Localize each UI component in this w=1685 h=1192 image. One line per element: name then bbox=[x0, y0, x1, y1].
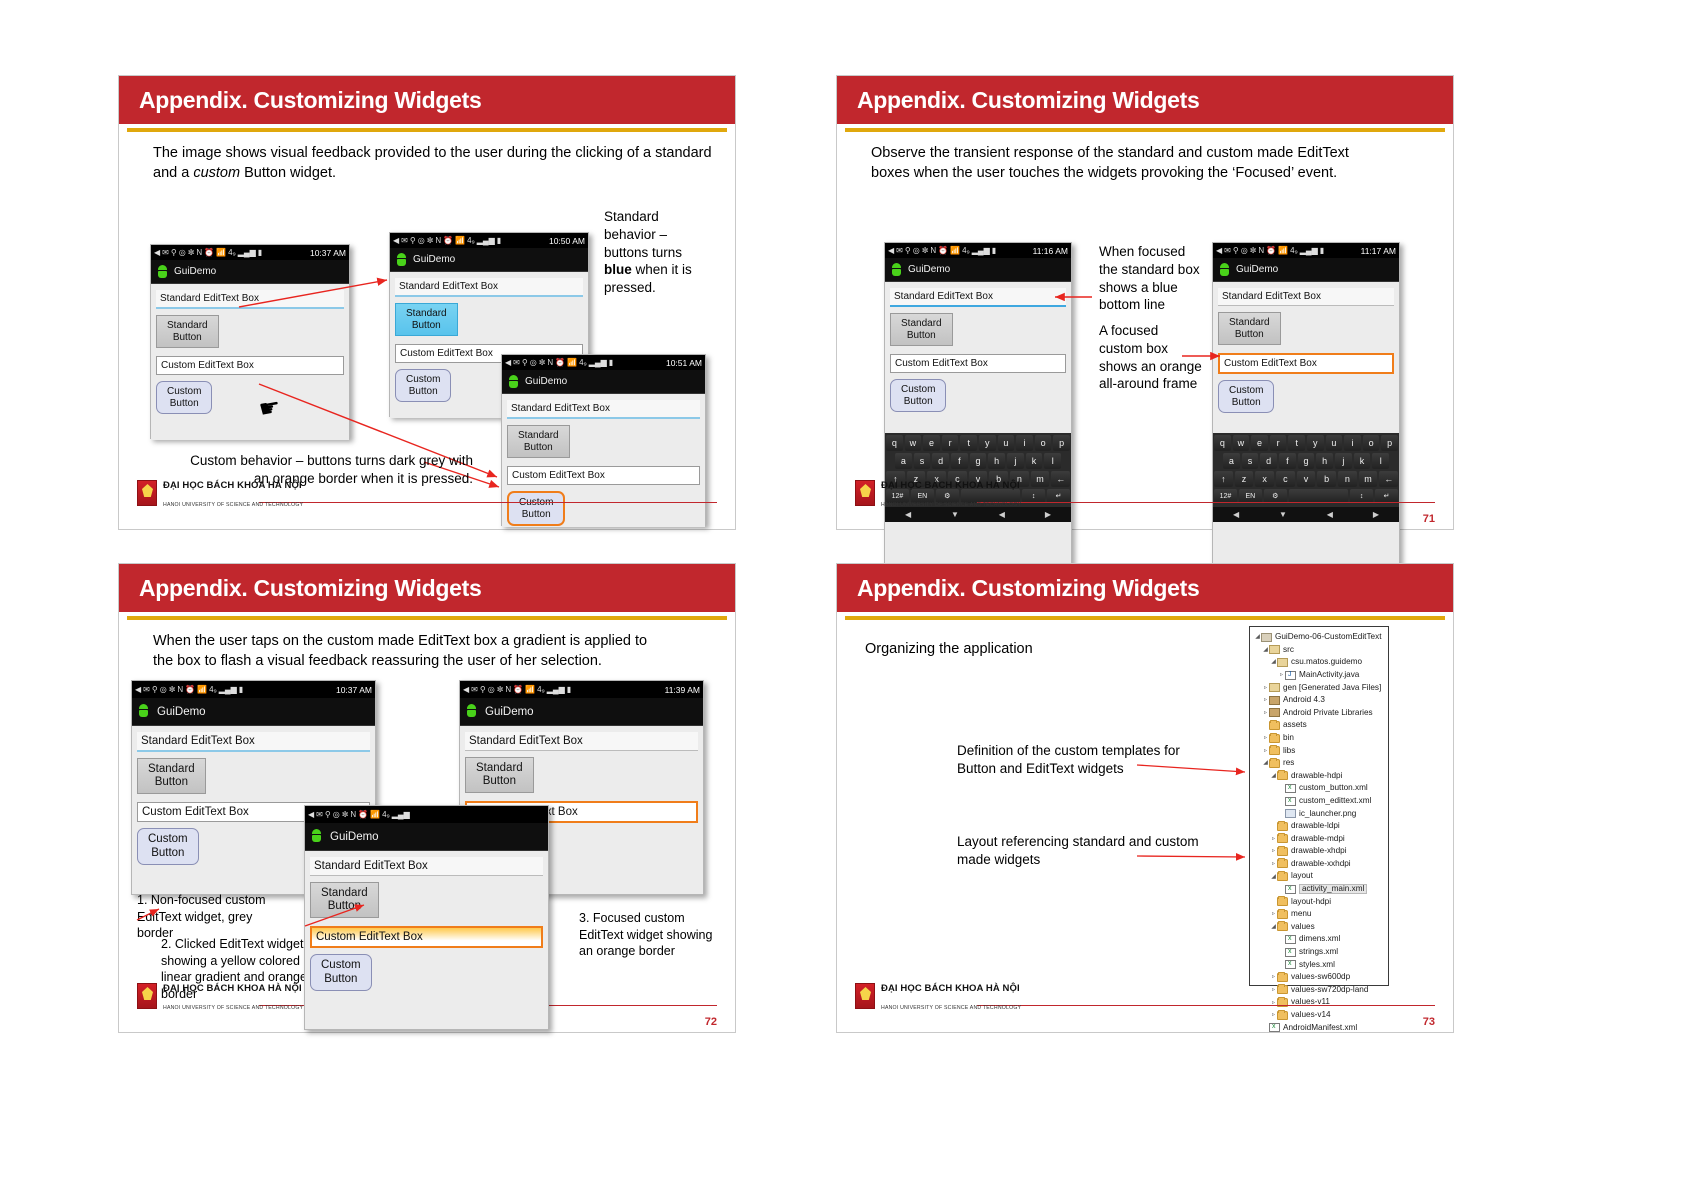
folder-icon bbox=[1277, 872, 1288, 881]
key-h[interactable]: h bbox=[988, 453, 1005, 469]
tree-item[interactable]: ▹drawable-xhdpi bbox=[1254, 845, 1384, 858]
xml-icon bbox=[1285, 935, 1296, 944]
nav-hide-icon[interactable]: ▼ bbox=[951, 510, 959, 519]
android-robot-icon bbox=[508, 375, 519, 388]
key-k[interactable]: k bbox=[1354, 453, 1371, 469]
standard-button[interactable]: Standard Button bbox=[507, 425, 570, 458]
custom-button-line1: Custom bbox=[901, 384, 935, 395]
signal-icon: ▂▄▆ bbox=[589, 359, 607, 367]
twisty-open-icon[interactable]: ◢ bbox=[1270, 659, 1277, 665]
callout-standard-behavior: Standard behavior – buttons turns blue w… bbox=[604, 208, 724, 297]
tree-item[interactable]: ▹gen [Generated Java Files] bbox=[1254, 681, 1384, 694]
key-b[interactable]: b bbox=[1317, 471, 1336, 487]
custom-button[interactable]: Custom Button bbox=[137, 828, 199, 864]
tree-item[interactable]: ▹menu bbox=[1254, 908, 1384, 921]
tree-item-label: values-sw600dp bbox=[1291, 973, 1350, 981]
tree-item[interactable]: ◢csu.matos.guidemo bbox=[1254, 656, 1384, 669]
app-action-bar: GuiDemo bbox=[460, 698, 703, 726]
app-screen: Standard EditText Box Standard Button Cu… bbox=[1213, 282, 1399, 433]
tree-item[interactable]: ▹MainActivity.java bbox=[1254, 669, 1384, 682]
app-action-bar: GuiDemo bbox=[305, 823, 548, 851]
key-u[interactable]: u bbox=[1326, 435, 1343, 451]
custom-button-line2: Button bbox=[1232, 397, 1261, 408]
xml-icon bbox=[1285, 784, 1296, 793]
twisty-open-icon[interactable]: ◢ bbox=[1262, 760, 1269, 766]
university-name: ĐẠI HỌC BÁCH KHOA HÀ NỘI bbox=[881, 480, 1020, 491]
twisty-closed-icon[interactable]: ▹ bbox=[1278, 672, 1285, 678]
key-i[interactable]: i bbox=[1344, 435, 1361, 451]
status-bar: ◀ ✉ ⚲ ◎ ✼ N ⏰ 📶 4₉ ▂▄▆ bbox=[305, 806, 548, 823]
tree-item[interactable]: ▹Android 4.3 bbox=[1254, 694, 1384, 707]
tree-item-label: values-sw720dp-land bbox=[1291, 986, 1368, 994]
standard-button[interactable]: Standard Button bbox=[890, 313, 953, 346]
slide-4-intro-text: Organizing the application bbox=[865, 641, 1033, 657]
footer-divider bbox=[977, 502, 1435, 503]
callout-line-5: pressed. bbox=[604, 280, 656, 295]
callout-layout-reference: Layout referencing standard and custom m… bbox=[957, 833, 1227, 869]
tree-item[interactable]: custom_edittext.xml bbox=[1254, 795, 1384, 808]
enter-key-icon[interactable]: ↵ bbox=[1375, 489, 1398, 503]
custom-button-pressed[interactable]: Custom Button bbox=[507, 491, 565, 526]
folder-icon bbox=[1277, 771, 1288, 780]
message-icon: ✉ bbox=[401, 237, 408, 245]
key-a[interactable]: a bbox=[895, 453, 912, 469]
app-action-bar: GuiDemo bbox=[502, 370, 705, 394]
tree-item-label: Android Private Libraries bbox=[1283, 709, 1373, 717]
sound-icon: ◎ bbox=[160, 686, 167, 694]
standard-button[interactable]: Standard Button bbox=[465, 757, 534, 793]
slide-3-intro-line1: When the user taps on the custom made Ed… bbox=[153, 633, 647, 649]
folder-icon bbox=[1269, 746, 1280, 755]
twisty-closed-icon[interactable]: ▹ bbox=[1270, 911, 1277, 917]
standard-edittext[interactable]: Standard EditText Box bbox=[1218, 288, 1394, 306]
twisty-closed-icon[interactable]: ▹ bbox=[1270, 836, 1277, 842]
key-d[interactable]: d bbox=[1260, 453, 1277, 469]
status-clock-wrap: 11:16 AM bbox=[1033, 246, 1068, 256]
tree-item[interactable]: ▹bin bbox=[1254, 732, 1384, 745]
message-icon: ✉ bbox=[1224, 247, 1231, 255]
android-robot-icon bbox=[138, 704, 151, 719]
twisty-open-icon[interactable]: ◢ bbox=[1270, 874, 1277, 880]
tree-item-label: assets bbox=[1283, 721, 1307, 729]
standard-button[interactable]: Standard Button bbox=[310, 882, 379, 918]
twisty-closed-icon[interactable]: ▹ bbox=[1262, 697, 1269, 703]
alarm-icon: ⏰ bbox=[358, 811, 368, 819]
wifi-icon: 📶 bbox=[216, 249, 226, 257]
status-icons-left: ◀ ✉ ⚲ ◎ ✼ N ⏰ 📶 4₉ ▂▄▆ ▮ bbox=[393, 237, 501, 245]
nfc-icon: N bbox=[547, 359, 553, 367]
key-t[interactable]: t bbox=[960, 435, 977, 451]
standard-button-pressed[interactable]: Standard Button bbox=[395, 303, 458, 336]
status-ampm: AM bbox=[572, 236, 585, 246]
battery-icon: ▮ bbox=[497, 237, 501, 245]
key-d[interactable]: d bbox=[932, 453, 949, 469]
app-title: GuiDemo bbox=[157, 706, 206, 718]
status-icons-left: ◀ ✉ ⚲ ◎ ✼ N ⏰ 📶 4₉ ▂▄▆ ▮ bbox=[154, 249, 262, 257]
key-y[interactable]: y bbox=[1307, 435, 1324, 451]
tree-item-label: bin bbox=[1283, 734, 1294, 742]
nfc-icon: N bbox=[196, 249, 202, 257]
nav-prev-icon[interactable]: ◀ bbox=[999, 510, 1005, 519]
battery-icon: ▮ bbox=[567, 686, 571, 694]
network-icon: 4₉ bbox=[579, 359, 587, 367]
signal-icon: ▂▄▆ bbox=[972, 247, 990, 255]
key-g[interactable]: g bbox=[1298, 453, 1315, 469]
custom-button-line2: Button bbox=[151, 847, 184, 859]
key-y[interactable]: y bbox=[979, 435, 996, 451]
custom-button-line2: Button bbox=[522, 509, 551, 520]
callout1-line-2: Button and EditText widgets bbox=[957, 761, 1124, 776]
tree-item[interactable]: layout-hdpi bbox=[1254, 895, 1384, 908]
battery-icon: ▮ bbox=[992, 247, 996, 255]
app-title: GuiDemo bbox=[413, 254, 455, 265]
folder-icon bbox=[1269, 721, 1280, 730]
slide-4-body: Organizing the application Definition of… bbox=[837, 620, 1453, 1032]
key-p[interactable]: p bbox=[1381, 435, 1398, 451]
tree-item[interactable]: ▹values-v14 bbox=[1254, 1009, 1384, 1022]
standard-button-line1: Standard bbox=[406, 308, 447, 319]
custom-edittext-gradient[interactable]: Custom EditText Box bbox=[310, 926, 543, 948]
key-w[interactable]: w bbox=[1233, 435, 1250, 451]
callout-line-4-bold: blue bbox=[604, 262, 632, 277]
app-screen: Standard EditText Box Standard Button Cu… bbox=[502, 394, 705, 527]
page-title: Appendix. Customizing Widgets bbox=[857, 575, 1199, 602]
key-r[interactable]: r bbox=[942, 435, 959, 451]
standard-button[interactable]: Standard Button bbox=[1218, 312, 1281, 345]
signal-icon: ▂▄▆ bbox=[1300, 247, 1318, 255]
shift-key-icon[interactable]: ↑ bbox=[1214, 471, 1233, 487]
signal-icon: ▂▄▆ bbox=[547, 686, 565, 694]
status-bar: ◀ ✉ ⚲ ◎ ✼ N ⏰ 📶 4₉ ▂▄▆ ▮ 11:17 AM bbox=[1213, 243, 1399, 258]
backspace-key-icon[interactable]: ← bbox=[1051, 471, 1070, 487]
custom-button[interactable]: Custom Button bbox=[395, 369, 451, 402]
nfc-icon: N bbox=[350, 811, 356, 819]
project-explorer-tree[interactable]: ◢GuiDemo-06-CustomEditText◢src◢csu.matos… bbox=[1249, 626, 1389, 986]
android-robot-icon bbox=[157, 265, 168, 278]
key-u[interactable]: u bbox=[998, 435, 1015, 451]
tree-item[interactable]: activity_main.xml bbox=[1254, 883, 1384, 896]
key-c[interactable]: c bbox=[1276, 471, 1295, 487]
network-icon: 4₉ bbox=[962, 247, 970, 255]
custom-button[interactable]: Custom Button bbox=[310, 954, 372, 990]
back-icon: ◀ bbox=[393, 237, 399, 245]
network-icon: 4₉ bbox=[537, 686, 545, 694]
tree-item-label: custom_edittext.xml bbox=[1299, 797, 1371, 805]
slide-4-title-bar: Appendix. Customizing Widgets bbox=[837, 564, 1453, 612]
key-o[interactable]: o bbox=[1363, 435, 1380, 451]
tree-item[interactable]: ▹values-sw720dp-land bbox=[1254, 984, 1384, 997]
usb-icon: ⚲ bbox=[171, 249, 177, 257]
callout-line-1: Standard bbox=[604, 209, 659, 224]
university-logo-icon bbox=[137, 983, 157, 1009]
twisty-open-icon[interactable]: ◢ bbox=[1270, 773, 1277, 779]
key-v[interactable]: v bbox=[1297, 471, 1316, 487]
custom-edittext[interactable]: Custom EditText Box bbox=[507, 466, 700, 485]
tree-item[interactable]: custom_button.xml bbox=[1254, 782, 1384, 795]
standard-button[interactable]: Standard Button bbox=[156, 315, 219, 348]
standard-button-line1: Standard bbox=[321, 887, 368, 899]
standard-edittext[interactable]: Standard EditText Box bbox=[507, 400, 700, 419]
status-icons-left: ◀ ✉ ⚲ ◎ ✼ N ⏰ 📶 4₉ ▂▄▆ ▮ bbox=[135, 686, 243, 694]
tree-item[interactable]: ▹values-v11 bbox=[1254, 996, 1384, 1009]
message-icon: ✉ bbox=[471, 686, 478, 694]
key-j[interactable]: j bbox=[1007, 453, 1024, 469]
nfc-icon: N bbox=[1258, 247, 1264, 255]
pkg-icon bbox=[1269, 645, 1280, 654]
key-f[interactable]: f bbox=[1279, 453, 1296, 469]
cursor-key-icon[interactable]: ↕ bbox=[1022, 489, 1045, 503]
standard-button-line1: Standard bbox=[518, 430, 559, 441]
custom-edittext[interactable]: Custom EditText Box bbox=[890, 354, 1066, 373]
tree-item-label: res bbox=[1283, 759, 1294, 767]
nav-next-icon[interactable]: ▶ bbox=[1045, 510, 1051, 519]
key-s[interactable]: s bbox=[914, 453, 931, 469]
note-focused-orange: 3. Focused custom EditText widget showin… bbox=[579, 910, 739, 960]
custom-button-line1: Custom bbox=[321, 959, 361, 971]
alarm-icon: ⏰ bbox=[513, 686, 523, 694]
tree-item[interactable]: ◢src bbox=[1254, 644, 1384, 657]
tree-item[interactable]: assets bbox=[1254, 719, 1384, 732]
key-o[interactable]: o bbox=[1035, 435, 1052, 451]
key-f[interactable]: f bbox=[951, 453, 968, 469]
usb-icon: ⚲ bbox=[325, 811, 331, 819]
key-l[interactable]: l bbox=[1044, 453, 1061, 469]
standard-button-line2: Button bbox=[1235, 329, 1264, 340]
wifi-icon: 📶 bbox=[197, 686, 207, 694]
xml-icon bbox=[1285, 797, 1296, 806]
twisty-closed-icon[interactable]: ▹ bbox=[1262, 748, 1269, 754]
nav-hide-icon[interactable]: ▼ bbox=[1279, 510, 1287, 519]
custom-edittext[interactable]: Custom EditText Box bbox=[156, 356, 344, 375]
twisty-closed-icon[interactable]: ▹ bbox=[1262, 735, 1269, 741]
tree-item[interactable]: styles.xml bbox=[1254, 958, 1384, 971]
network-icon: 4₉ bbox=[382, 811, 390, 819]
tree-item-label: GuiDemo-06-CustomEditText bbox=[1275, 633, 1381, 641]
slide-2-intro-line2: boxes when the user touches the widgets … bbox=[871, 165, 1337, 181]
tree-item[interactable]: ▹libs bbox=[1254, 744, 1384, 757]
app-action-bar: GuiDemo bbox=[885, 258, 1071, 282]
callout1-line-4: bottom line bbox=[1099, 297, 1165, 312]
twisty-open-icon[interactable]: ◢ bbox=[1254, 634, 1261, 640]
status-clock: 10:37 bbox=[310, 248, 331, 258]
custom-button-line1: Custom bbox=[406, 374, 440, 385]
alarm-icon: ⏰ bbox=[185, 686, 195, 694]
phone-mock-focused-custom: ◀ ✉ ⚲ ◎ ✼ N ⏰ 📶 4₉ ▂▄▆ ▮ 11:17 AM bbox=[1212, 242, 1400, 568]
page-number: 71 bbox=[1423, 513, 1435, 525]
standard-edittext[interactable]: Standard EditText Box bbox=[465, 732, 698, 751]
tree-item-label: gen [Generated Java Files] bbox=[1283, 684, 1381, 692]
settings-key-icon[interactable]: ⚙ bbox=[1264, 489, 1287, 503]
slide-4: Appendix. Customizing Widgets Organizing… bbox=[836, 563, 1454, 1033]
jar-icon bbox=[1269, 696, 1280, 705]
tree-item[interactable]: ▹drawable-mdpi bbox=[1254, 833, 1384, 846]
tree-item[interactable]: drawable-ldpi bbox=[1254, 820, 1384, 833]
page-number: 72 bbox=[705, 1016, 717, 1028]
key-e[interactable]: e bbox=[1251, 435, 1268, 451]
slide-3-body: When the user taps on the custom made Ed… bbox=[119, 620, 735, 1032]
key-k[interactable]: k bbox=[1026, 453, 1043, 469]
network-icon: 4₉ bbox=[228, 249, 236, 257]
tree-item[interactable]: ▹drawable-xxhdpi bbox=[1254, 858, 1384, 871]
key-r[interactable]: r bbox=[1270, 435, 1287, 451]
wifi-icon: 📶 bbox=[567, 359, 577, 367]
twisty-closed-icon[interactable]: ▹ bbox=[1262, 710, 1269, 716]
slide-2-intro: Observe the transient response of the st… bbox=[871, 144, 1441, 183]
wifi-icon: 📶 bbox=[370, 811, 380, 819]
key-x[interactable]: x bbox=[1255, 471, 1274, 487]
twisty-closed-icon[interactable]: ▹ bbox=[1270, 861, 1277, 867]
slide-1-body: The image shows visual feedback provided… bbox=[119, 132, 735, 529]
symbols-key[interactable]: 12# bbox=[1214, 489, 1237, 503]
callout-custom-templates: Definition of the custom templates for B… bbox=[957, 742, 1227, 778]
key-m[interactable]: m bbox=[1031, 471, 1050, 487]
tree-item-label: strings.xml bbox=[1299, 948, 1338, 956]
bluetooth-icon: ✼ bbox=[188, 249, 195, 257]
twisty-open-icon[interactable]: ◢ bbox=[1270, 924, 1277, 930]
nav-next-icon[interactable]: ▶ bbox=[1373, 510, 1379, 519]
key-j[interactable]: j bbox=[1335, 453, 1352, 469]
callout2-line-4: all-around frame bbox=[1099, 376, 1197, 391]
custom-button-line1: Custom bbox=[1229, 385, 1263, 396]
bluetooth-icon: ✼ bbox=[169, 686, 176, 694]
enter-key-icon[interactable]: ↵ bbox=[1047, 489, 1070, 503]
tree-item-label: drawable-xhdpi bbox=[1291, 847, 1347, 855]
standard-edittext[interactable]: Standard EditText Box bbox=[395, 278, 583, 297]
key-q[interactable]: q bbox=[886, 435, 903, 451]
backspace-key-icon[interactable]: ← bbox=[1379, 471, 1398, 487]
key-a[interactable]: a bbox=[1223, 453, 1240, 469]
twisty-closed-icon[interactable]: ▹ bbox=[1270, 987, 1277, 993]
key-s[interactable]: s bbox=[1242, 453, 1259, 469]
tree-item[interactable]: ◢values bbox=[1254, 921, 1384, 934]
status-ampm: AM bbox=[1055, 246, 1068, 256]
sound-icon: ◎ bbox=[488, 686, 495, 694]
key-z[interactable]: z bbox=[1235, 471, 1254, 487]
tree-item[interactable]: ◢drawable-hdpi bbox=[1254, 770, 1384, 783]
phone-mock-focused-standard: ◀ ✉ ⚲ ◎ ✼ N ⏰ 📶 4₉ ▂▄▆ ▮ 11:16 AM bbox=[884, 242, 1072, 568]
nav-back-icon[interactable]: ◀ bbox=[1233, 510, 1239, 519]
tree-item[interactable]: strings.xml bbox=[1254, 946, 1384, 959]
standard-edittext[interactable]: Standard EditText Box bbox=[310, 857, 543, 876]
alarm-icon: ⏰ bbox=[204, 249, 214, 257]
custom-edittext-focused[interactable]: Custom EditText Box bbox=[1218, 353, 1394, 374]
back-icon: ◀ bbox=[888, 247, 894, 255]
status-clock-wrap: 11:39 AM bbox=[665, 685, 700, 695]
soft-keyboard[interactable]: q w e r t y u i o p a s d f g h bbox=[1213, 433, 1399, 507]
tree-item[interactable]: ◢res bbox=[1254, 757, 1384, 770]
sound-icon: ◎ bbox=[1241, 247, 1248, 255]
key-h[interactable]: h bbox=[1316, 453, 1333, 469]
proj-icon bbox=[1261, 633, 1272, 642]
key-q[interactable]: q bbox=[1214, 435, 1231, 451]
custom-button[interactable]: Custom Button bbox=[890, 379, 946, 412]
android-robot-icon bbox=[891, 263, 902, 276]
bluetooth-icon: ✼ bbox=[539, 359, 546, 367]
university-subtitle: HANOI UNIVERSITY OF SCIENCE AND TECHNOLO… bbox=[881, 1005, 1021, 1011]
sound-icon: ◎ bbox=[418, 237, 425, 245]
custom-button[interactable]: Custom Button bbox=[156, 381, 212, 414]
key-w[interactable]: w bbox=[905, 435, 922, 451]
space-key[interactable] bbox=[1289, 489, 1349, 503]
slide-1-intro-line2-post: Button widget. bbox=[240, 165, 336, 181]
nav-back-icon[interactable]: ◀ bbox=[905, 510, 911, 519]
cursor-key-icon[interactable]: ↕ bbox=[1350, 489, 1373, 503]
status-bar: ◀ ✉ ⚲ ◎ ✼ N ⏰ 📶 4₉ ▂▄▆ ▮ 10:51 AM bbox=[502, 355, 705, 370]
status-clock: 10:50 bbox=[549, 236, 570, 246]
message-icon: ✉ bbox=[896, 247, 903, 255]
tree-item[interactable]: ic_launcher.png bbox=[1254, 807, 1384, 820]
wifi-icon: 📶 bbox=[525, 686, 535, 694]
network-icon: 4₉ bbox=[1290, 247, 1298, 255]
twisty-closed-icon[interactable]: ▹ bbox=[1270, 848, 1277, 854]
key-e[interactable]: e bbox=[923, 435, 940, 451]
status-bar: ◀ ✉ ⚲ ◎ ✼ N ⏰ 📶 4₉ ▂▄▆ ▮ 10:37 AM bbox=[132, 681, 375, 698]
standard-button-line1: Standard bbox=[901, 318, 942, 329]
twisty-open-icon[interactable]: ◢ bbox=[1262, 647, 1269, 653]
standard-edittext[interactable]: Standard EditText Box bbox=[156, 290, 344, 309]
tree-item[interactable]: ▹values-sw600dp bbox=[1254, 971, 1384, 984]
folder-icon bbox=[1277, 847, 1288, 856]
tree-item[interactable]: ▹Android Private Libraries bbox=[1254, 707, 1384, 720]
key-n[interactable]: n bbox=[1338, 471, 1357, 487]
callout2-line-3: shows an orange bbox=[1099, 359, 1202, 374]
phone-mock-c: ◀ ✉ ⚲ ◎ ✼ N ⏰ 📶 4₉ ▂▄▆ ▮ 10:51 AM bbox=[501, 354, 706, 526]
signal-icon: ▂▄▆ bbox=[219, 686, 237, 694]
custom-button[interactable]: Custom Button bbox=[1218, 380, 1274, 413]
slide-2-title-bar: Appendix. Customizing Widgets bbox=[837, 76, 1453, 124]
status-bar: ◀ ✉ ⚲ ◎ ✼ N ⏰ 📶 4₉ ▂▄▆ ▮ 10:37 AM bbox=[151, 245, 349, 260]
system-navbar[interactable]: ◀ ▼ ◀ ▶ bbox=[1213, 507, 1399, 522]
standard-edittext[interactable]: Standard EditText Box bbox=[137, 732, 370, 752]
twisty-closed-icon[interactable]: ▹ bbox=[1270, 1012, 1277, 1018]
twisty-closed-icon[interactable]: ▹ bbox=[1270, 974, 1277, 980]
network-icon: 4₉ bbox=[209, 686, 217, 694]
standard-button[interactable]: Standard Button bbox=[137, 758, 206, 794]
app-action-bar: GuiDemo bbox=[1213, 258, 1399, 282]
note2-line-1: 2. Clicked EditText widget bbox=[161, 937, 303, 951]
folder-icon bbox=[1277, 1011, 1288, 1020]
folder-icon bbox=[1269, 734, 1280, 743]
key-l[interactable]: l bbox=[1372, 453, 1389, 469]
usb-icon: ⚲ bbox=[480, 686, 486, 694]
standard-edittext-focused[interactable]: Standard EditText Box bbox=[890, 288, 1066, 307]
tree-item[interactable]: ◢layout bbox=[1254, 870, 1384, 883]
twisty-closed-icon[interactable]: ▹ bbox=[1262, 685, 1269, 691]
key-m[interactable]: m bbox=[1359, 471, 1378, 487]
slide-3-intro-line2: the box to flash a visual feedback reass… bbox=[153, 653, 602, 669]
message-icon: ✉ bbox=[513, 359, 520, 367]
custom-button-line2: Button bbox=[324, 973, 357, 985]
tree-item[interactable]: AndroidManifest.xml bbox=[1254, 1021, 1384, 1034]
tree-item[interactable]: ◢GuiDemo-06-CustomEditText bbox=[1254, 631, 1384, 644]
key-i[interactable]: i bbox=[1016, 435, 1033, 451]
key-g[interactable]: g bbox=[970, 453, 987, 469]
sound-icon: ◎ bbox=[913, 247, 920, 255]
signal-icon: ▂▄▆ bbox=[392, 811, 410, 819]
key-t[interactable]: t bbox=[1288, 435, 1305, 451]
folder-icon bbox=[1277, 973, 1288, 982]
callout-line-2: behavior – bbox=[604, 227, 667, 242]
university-logo-icon bbox=[855, 480, 875, 506]
tree-item-label: custom_button.xml bbox=[1299, 784, 1368, 792]
keyboard-row-1: q w e r t y u i o p bbox=[886, 435, 1070, 451]
nav-prev-icon[interactable]: ◀ bbox=[1327, 510, 1333, 519]
phone-mock-gradient: ◀ ✉ ⚲ ◎ ✼ N ⏰ 📶 4₉ ▂▄▆ GuiDemo Standar bbox=[304, 805, 549, 1030]
tree-item[interactable]: dimens.xml bbox=[1254, 933, 1384, 946]
back-icon: ◀ bbox=[1216, 247, 1222, 255]
language-key[interactable]: EN bbox=[1239, 489, 1262, 503]
key-p[interactable]: p bbox=[1053, 435, 1070, 451]
